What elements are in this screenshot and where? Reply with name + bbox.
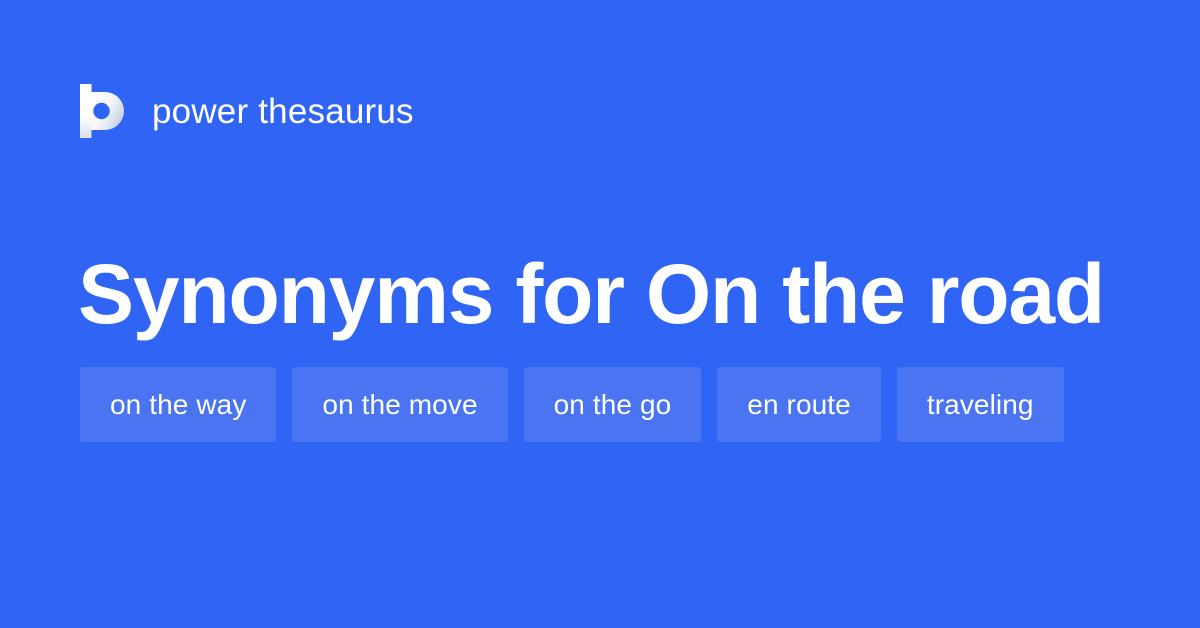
synonym-chip[interactable]: traveling — [897, 367, 1064, 442]
synonym-chip[interactable]: en route — [717, 367, 881, 442]
power-thesaurus-b-logo-icon — [80, 84, 128, 138]
page-root: power thesaurus Synonyms for On the road… — [0, 0, 1200, 628]
synonym-chip[interactable]: on the way — [80, 367, 276, 442]
synonym-chip-list: on the way on the move on the go en rout… — [80, 367, 1140, 442]
brand-header[interactable]: power thesaurus — [80, 82, 414, 140]
synonym-chip[interactable]: on the move — [292, 367, 507, 442]
brand-name: power thesaurus — [152, 94, 414, 129]
synonym-chip[interactable]: on the go — [524, 367, 702, 442]
page-title: Synonyms for On the road — [78, 252, 1128, 338]
